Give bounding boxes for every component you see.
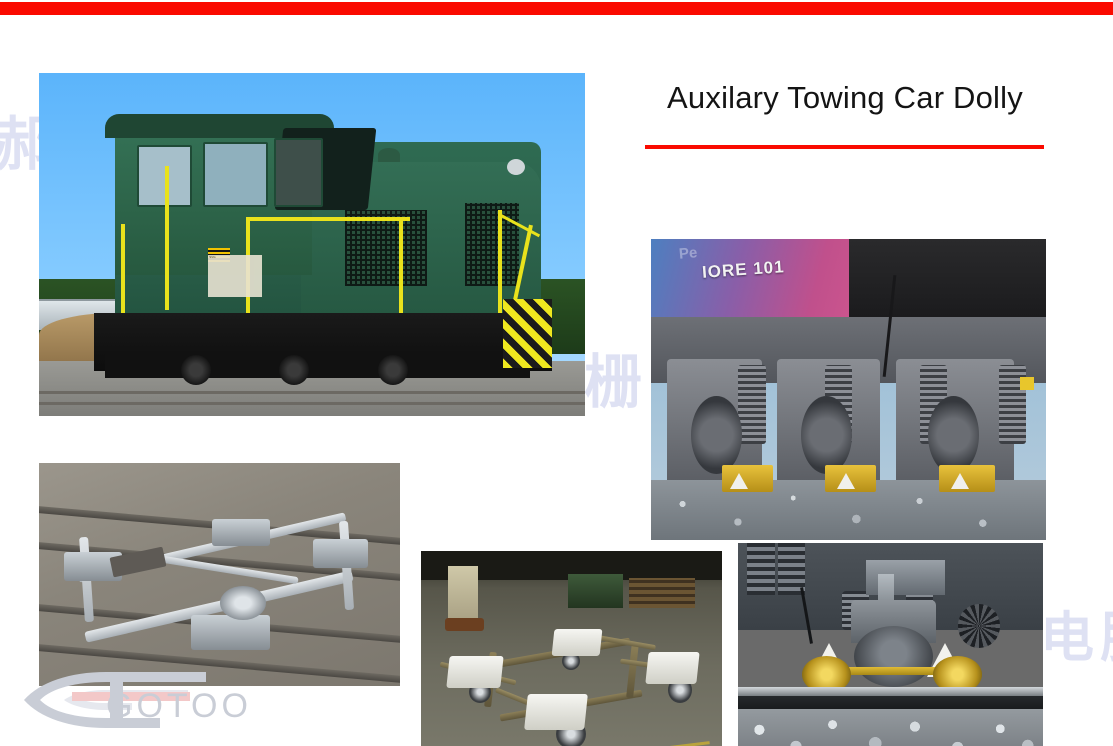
builders-plate: SVG bbox=[208, 255, 262, 297]
driving-wheel bbox=[691, 396, 742, 474]
dolly-wedge bbox=[951, 473, 969, 489]
yellow-handrail bbox=[165, 166, 169, 310]
locomotive-skirt bbox=[105, 351, 531, 378]
driving-wheel bbox=[801, 396, 852, 474]
yellow-handrail bbox=[498, 210, 502, 320]
cab-window bbox=[274, 138, 323, 207]
photo-iore-locomotive-bogies: Pe IORE 101 bbox=[651, 239, 1046, 540]
watermark-text-right: 电服 bbox=[1040, 593, 1113, 672]
photo-dolly-frame-on-track bbox=[39, 463, 400, 686]
yellow-handrail bbox=[246, 217, 410, 221]
parts-cart bbox=[568, 574, 622, 608]
wooden-pallet bbox=[629, 578, 695, 607]
dolly-wedge bbox=[837, 473, 855, 489]
gotoo-wordmark: GOTOO bbox=[106, 687, 252, 726]
ballast-bed bbox=[738, 709, 1043, 746]
hazard-stripes bbox=[503, 299, 552, 368]
dolly-roller-wheel bbox=[220, 586, 266, 620]
header-accent-bar bbox=[0, 2, 1113, 15]
locomotive-body-dark bbox=[849, 239, 1047, 317]
person-shoe bbox=[445, 618, 484, 631]
livery-script-text: Pe bbox=[678, 244, 698, 263]
photo-four-wheel-dolly-workshop bbox=[421, 551, 722, 746]
rail-line bbox=[39, 402, 585, 405]
person-legs bbox=[448, 566, 478, 625]
slide-canvas: 郝亚鹏电器股份 铁栅 电服 Auxilary Towing Car Dolly bbox=[0, 15, 1113, 746]
yellow-handrail bbox=[121, 224, 125, 327]
dolly-bracket bbox=[191, 615, 270, 651]
driving-wheel bbox=[928, 396, 979, 474]
locomotive-wheel bbox=[181, 355, 211, 385]
locomotive-wheel bbox=[854, 626, 933, 687]
photo-dolly-under-wheel-closeup bbox=[738, 543, 1043, 746]
leaf-spring bbox=[738, 365, 766, 443]
cooling-fan-icon bbox=[958, 604, 1001, 648]
locomotive-wheel bbox=[378, 355, 408, 385]
protective-wrapping bbox=[524, 694, 588, 730]
rail-line bbox=[39, 391, 585, 394]
engine-grille bbox=[345, 210, 427, 285]
protective-wrapping bbox=[552, 629, 603, 656]
protective-wrapping bbox=[645, 652, 699, 684]
slide-title: Auxilary Towing Car Dolly bbox=[645, 79, 1045, 116]
dolly-bracket bbox=[313, 539, 367, 568]
cab-window bbox=[203, 142, 269, 207]
coil-spring bbox=[747, 543, 774, 595]
warning-label-icon bbox=[1020, 377, 1034, 390]
engine-grille bbox=[465, 203, 520, 285]
dolly-bracket bbox=[212, 519, 270, 546]
dolly-wedge bbox=[730, 473, 748, 489]
title-underline-rule bbox=[645, 145, 1044, 149]
protective-wrapping bbox=[446, 656, 503, 688]
photo-green-locomotive: SVG bbox=[39, 73, 585, 416]
yellow-handrail bbox=[399, 217, 403, 313]
exhaust-stack bbox=[378, 148, 400, 162]
gotoo-logo: GOTOO bbox=[10, 662, 230, 738]
headlamp bbox=[507, 159, 525, 175]
